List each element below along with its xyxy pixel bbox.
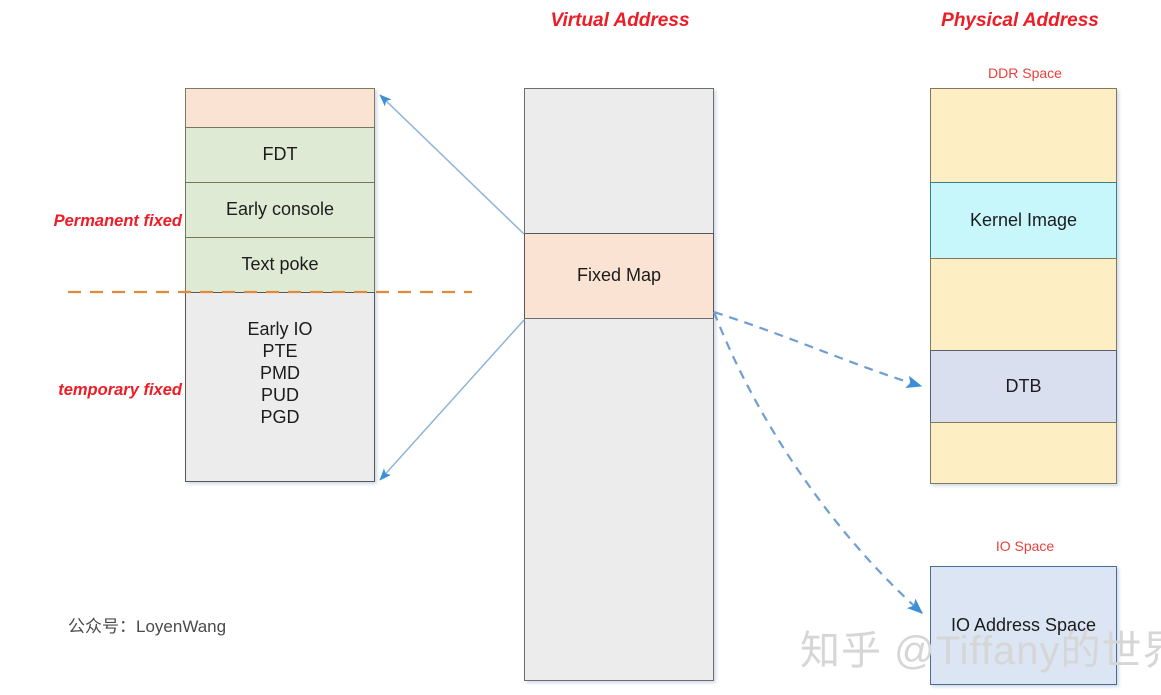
temp-line-pgd: PGD xyxy=(260,407,299,429)
physical-address-title: Physical Address xyxy=(905,10,1135,32)
connector-fixedmap-to-dtb xyxy=(714,312,921,386)
permanent-fixed-label: Permanent fixed xyxy=(0,212,182,231)
ddr-block-free-1 xyxy=(930,88,1117,183)
virtual-top-block xyxy=(524,88,714,234)
virtual-bottom-block xyxy=(524,318,714,681)
temp-line-early-io: Early IO xyxy=(247,319,312,341)
ddr-space-title: DDR Space xyxy=(925,65,1125,81)
temp-line-pud: PUD xyxy=(261,385,299,407)
connector-fixedmap-to-io xyxy=(714,312,922,613)
temp-line-pte: PTE xyxy=(262,341,297,363)
temporary-fixed-label: temporary fixed xyxy=(0,381,182,400)
ddr-block-dtb: DTB xyxy=(930,350,1117,423)
fixmap-row-fdt: FDT xyxy=(185,127,375,183)
virtual-address-title: Virtual Address xyxy=(505,10,735,32)
virtual-address-column: Fixed Map xyxy=(524,88,714,681)
ddr-block-kernel-image: Kernel Image xyxy=(930,182,1117,259)
io-space-title: IO Space xyxy=(925,538,1125,554)
diagram-canvas: Virtual Address Physical Address DDR Spa… xyxy=(0,0,1161,695)
fixmap-row-temporary: Early IO PTE PMD PUD PGD xyxy=(185,292,375,482)
connector-fixmap-top xyxy=(380,95,524,234)
connector-fixmap-bottom xyxy=(380,320,524,480)
ddr-column: Kernel Image DTB xyxy=(930,88,1117,484)
temp-line-pmd: PMD xyxy=(260,363,300,385)
fixmap-row-top xyxy=(185,88,375,128)
watermark-right: 知乎 @Tiffany的世界 xyxy=(800,618,1161,676)
ddr-block-free-3 xyxy=(930,422,1117,484)
ddr-block-free-2 xyxy=(930,258,1117,351)
fixmap-row-text-poke: Text poke xyxy=(185,237,375,293)
watermark-left: 公众号：LoyenWang xyxy=(68,612,226,637)
fixed-map-block: Fixed Map xyxy=(524,233,714,319)
fixmap-row-early-console: Early console xyxy=(185,182,375,238)
fixmap-column: FDT Early console Text poke Early IO PTE… xyxy=(185,88,375,482)
